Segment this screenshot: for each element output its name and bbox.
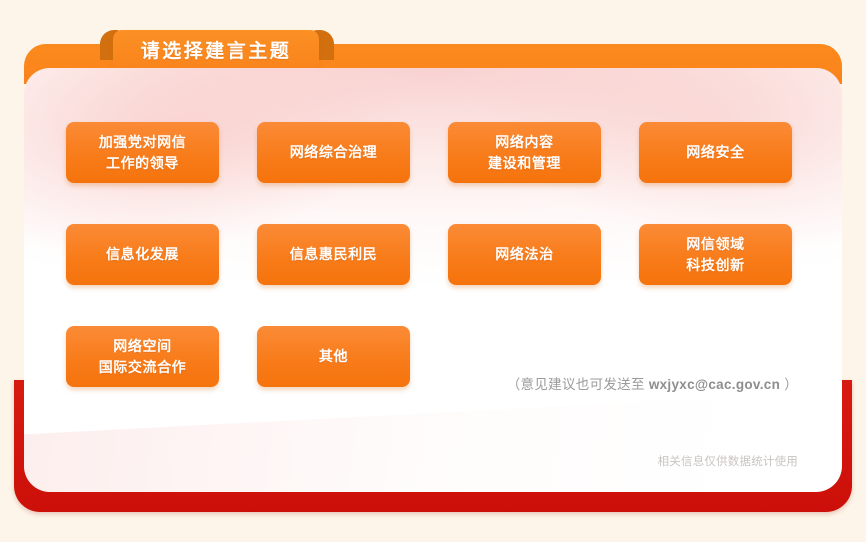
topic-button-6[interactable]: 信息惠民利民: [257, 224, 410, 285]
topic-button-4[interactable]: 网络安全: [639, 122, 792, 183]
footer-disclaimer: 相关信息仅供数据统计使用: [66, 453, 798, 469]
card-background-sheen: [24, 387, 842, 492]
email-note: （意见建议也可发送至 wxjyxc@cac.gov.cn ）: [66, 373, 798, 393]
topic-card: 加强党对网信 工作的领导 网络综合治理 网络内容 建设和管理 网络安全 信息化发…: [24, 68, 842, 492]
topic-button-8[interactable]: 网信领域 科技创新: [639, 224, 792, 285]
topic-button-2[interactable]: 网络综合治理: [257, 122, 410, 183]
topic-grid: 加强党对网信 工作的领导 网络综合治理 网络内容 建设和管理 网络安全 信息化发…: [66, 122, 798, 387]
topic-button-7[interactable]: 网络法治: [448, 224, 601, 285]
email-address[interactable]: wxjyxc@cac.gov.cn: [649, 377, 780, 392]
email-note-suffix: ）: [780, 377, 798, 392]
topic-button-3[interactable]: 网络内容 建设和管理: [448, 122, 601, 183]
topic-button-5[interactable]: 信息化发展: [66, 224, 219, 285]
page-stage: 请选择建言主题 加强党对网信 工作的领导 网络综合治理 网络内容 建设和管理 网…: [0, 0, 866, 542]
title-plaque: 请选择建言主题: [113, 30, 319, 72]
page-title: 请选择建言主题: [141, 42, 292, 61]
email-note-prefix: （意见建议也可发送至: [507, 377, 649, 392]
topic-button-1[interactable]: 加强党对网信 工作的领导: [66, 122, 219, 183]
